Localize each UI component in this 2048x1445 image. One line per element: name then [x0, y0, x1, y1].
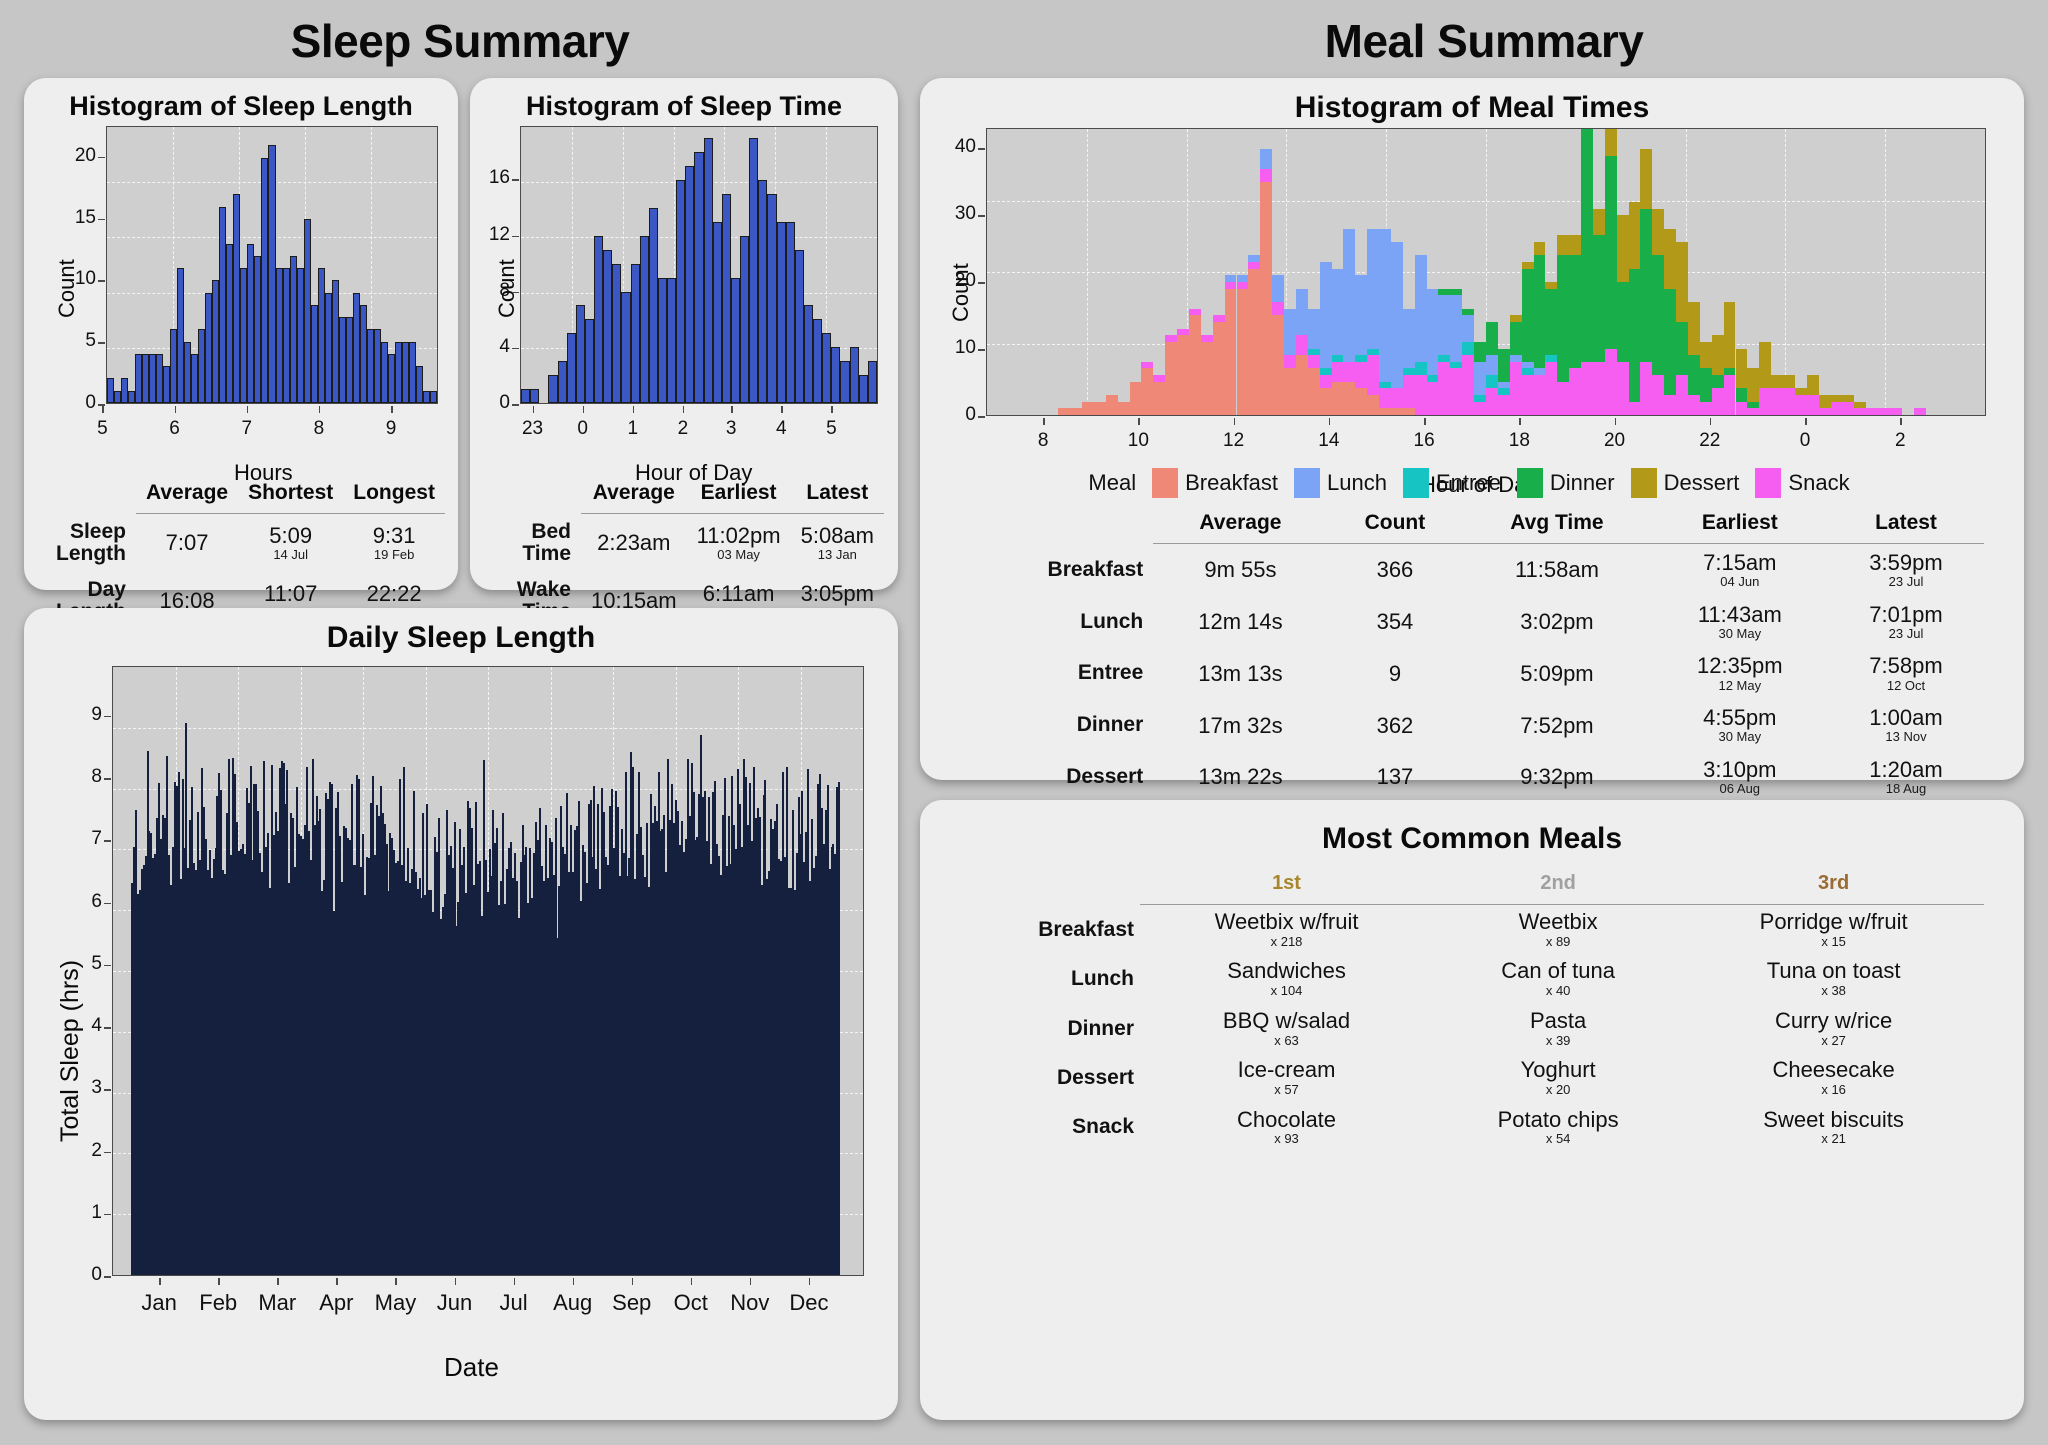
histogram-bar: [170, 329, 177, 403]
histogram-bar: [233, 194, 240, 403]
meal-stack-segment: [1842, 395, 1854, 402]
histogram-bar: [226, 244, 233, 403]
meal-stack-segment: [1700, 402, 1712, 415]
x-tick-label: Oct: [661, 1290, 721, 1316]
histogram-bar: [840, 361, 849, 403]
histogram-bar: [276, 268, 283, 403]
meal-stack-segment: [1296, 355, 1308, 415]
row-label: Sleep Length: [46, 514, 136, 572]
meal-stack-segment: [1759, 342, 1771, 389]
meal-stack-segment: [1094, 402, 1106, 415]
x-tick-label: 5: [90, 418, 114, 440]
cell-first: Ice-creamx 57: [1140, 1053, 1433, 1102]
meal-stack-segment: [1712, 388, 1724, 415]
x-tick-mark: [247, 406, 249, 413]
col-latest: Latest: [791, 478, 884, 514]
meal-stack-segment: [1355, 362, 1367, 389]
table-row: DinnerBBQ w/saladx 63Pastax 39Curry w/ri…: [960, 1004, 1984, 1053]
meal-stack-segment: [1403, 375, 1415, 408]
histogram-bar: [353, 293, 360, 403]
meal-stack-segment: [1771, 388, 1783, 415]
histogram-bar: [831, 347, 840, 403]
y-tick-label: 7: [70, 828, 102, 850]
y-tick-label: 8: [478, 280, 510, 302]
histogram-bar: [704, 138, 713, 403]
x-tick-mark: [1900, 418, 1902, 425]
meal-stack-segment: [1783, 388, 1795, 415]
meal-stack-segment: [1510, 362, 1522, 415]
col-blank: [960, 868, 1140, 905]
histogram-bar: [631, 264, 640, 403]
x-tick-label: 16: [1412, 430, 1436, 452]
histogram-bar: [135, 354, 142, 403]
histogram-bar: [367, 329, 374, 403]
x-tick-mark: [731, 406, 733, 413]
legend-item-dessert[interactable]: Dessert: [1631, 468, 1740, 498]
cell-average: 9m 55s: [1153, 544, 1327, 596]
meal-stack-segment: [1462, 315, 1474, 342]
meal-stack-segment: [1320, 262, 1332, 368]
meal-stack-segment: [1676, 322, 1688, 375]
cell-avg-time: 3:02pm: [1462, 596, 1651, 648]
meal-stack-segment: [1474, 395, 1486, 402]
x-tick-label: 7: [235, 418, 259, 440]
meal-stack-segment: [1664, 289, 1676, 395]
meal-stack-segment: [1403, 408, 1415, 415]
x-tick-mark: [1329, 418, 1331, 425]
y-tick-mark: [512, 348, 519, 350]
x-tick-mark: [781, 406, 783, 413]
y-tick-label: 0: [70, 1264, 102, 1286]
meal-stack-segment: [1688, 355, 1700, 395]
meal-stack-segment: [1213, 322, 1225, 415]
histogram-bar: [767, 194, 776, 403]
y-tick-mark: [104, 778, 111, 780]
meal-stack-segment: [1712, 375, 1724, 388]
histogram-bar: [423, 391, 430, 403]
col-first: 1st: [1140, 868, 1433, 905]
cell-shortest: 5:0914 Jul: [238, 514, 343, 572]
table-row: LunchSandwichesx 104Can of tunax 40Tuna …: [960, 954, 1984, 1003]
x-tick-label: 9: [379, 418, 403, 440]
cell-second: Pastax 39: [1433, 1004, 1683, 1053]
histogram-bar: [374, 329, 381, 403]
row-label: Dessert: [960, 1053, 1140, 1102]
histogram-bar: [822, 333, 831, 403]
row-label: Breakfast: [960, 905, 1140, 955]
cell-first: Sandwichesx 104: [1140, 954, 1433, 1003]
col-blank: [484, 478, 581, 514]
meal-stack-segment: [1498, 349, 1510, 382]
meal-times-histogram: Count Hour of Day 8101214161820220201020…: [920, 122, 2024, 522]
legend-item-lunch[interactable]: Lunch: [1294, 468, 1387, 498]
histogram-bar: [667, 278, 676, 403]
cell-third: Curry w/ricex 27: [1683, 1004, 1984, 1053]
meal-stack-segment: [1890, 408, 1902, 415]
x-tick-mark: [159, 1278, 161, 1285]
meal-stack-segment: [1510, 355, 1522, 362]
meal-stack-segment: [1854, 408, 1866, 415]
meal-stack-segment: [1141, 362, 1153, 369]
histogram-bar: [416, 366, 423, 403]
histogram-bar: [290, 256, 297, 403]
x-tick-mark: [632, 1278, 634, 1285]
meal-stack-segment: [1237, 282, 1249, 289]
entree-swatch-icon: [1403, 468, 1429, 498]
meal-stack-segment: [1700, 368, 1712, 401]
cell-latest: 1:20am18 Aug: [1828, 751, 1984, 803]
cell-count: 366: [1328, 544, 1463, 596]
histogram-bar: [740, 236, 749, 403]
meal-stack-segment: [1332, 362, 1344, 382]
x-tick-mark: [1138, 418, 1140, 425]
x-tick-label: Apr: [306, 1290, 366, 1316]
meal-stack-segment: [1771, 375, 1783, 388]
meal-stack-segment: [1165, 342, 1177, 415]
histogram-bar: [261, 158, 268, 403]
cell-third: Cheesecakex 16: [1683, 1053, 1984, 1102]
meal-times-chart-title: Histogram of Meal Times: [920, 78, 2024, 125]
histogram-bar: [212, 280, 219, 403]
x-tick-mark: [218, 1278, 220, 1285]
meal-stack-segment: [1284, 355, 1296, 368]
meal-stack-segment: [1486, 388, 1498, 415]
meal-stack-segment: [1165, 335, 1177, 342]
meal-stack-segment: [1866, 408, 1878, 415]
meal-stack-segment: [1367, 395, 1379, 415]
meal-stack-segment: [1664, 395, 1676, 415]
histogram-bar: [868, 361, 877, 403]
meal-stack-segment: [1783, 375, 1795, 388]
meal-stack-segment: [1510, 315, 1522, 322]
meal-stack-segment: [1878, 408, 1890, 415]
histogram-bar: [621, 292, 630, 404]
meal-stack-segment: [1712, 335, 1724, 375]
x-tick-mark: [277, 1278, 279, 1285]
meal-stack-segment: [1141, 368, 1153, 415]
x-tick-label: 20: [1603, 430, 1627, 452]
meal-stack-segment: [1676, 375, 1688, 415]
y-tick-mark: [104, 1027, 111, 1029]
histogram-bar: [749, 138, 758, 403]
y-tick-mark: [978, 282, 985, 284]
x-tick-mark: [691, 1278, 693, 1285]
histogram-bar: [558, 361, 567, 403]
meal-stack-segment: [1379, 382, 1391, 389]
legend-title: Meal: [1088, 470, 1136, 496]
histogram-bar: [786, 222, 795, 403]
histogram-bar: [128, 391, 135, 403]
meal-stack-segment: [1450, 295, 1462, 362]
meal-stack-segment: [1308, 355, 1320, 368]
meal-stack-segment: [1450, 368, 1462, 415]
cell-first: Chocolatex 93: [1140, 1103, 1433, 1152]
meal-stack-segment: [1486, 355, 1498, 375]
table-row: Dessert13m 22s1379:32pm3:10pm06 Aug1:20a…: [960, 751, 1984, 803]
histogram-bar: [247, 244, 254, 403]
histogram-bar: [156, 354, 163, 403]
snack-swatch-icon: [1755, 468, 1781, 498]
cell-average: 2:23am: [581, 514, 687, 572]
meal-stack-segment: [1427, 289, 1439, 375]
legend-item-entree[interactable]: Entree: [1403, 468, 1501, 498]
histogram-bar: [114, 391, 121, 403]
meal-stack-segment: [1438, 362, 1450, 415]
col-average: Average: [136, 478, 238, 514]
x-tick-label: Nov: [720, 1290, 780, 1316]
y-tick-label: 40: [944, 136, 976, 158]
y-tick-mark: [978, 148, 985, 150]
cell-first: BBQ w/saladx 63: [1140, 1004, 1433, 1053]
sleep-time-stats-table: Average Earliest Latest Bed Time 2:23am …: [484, 478, 884, 630]
cell-second: Can of tunax 40: [1433, 954, 1683, 1003]
histogram-bar: [530, 389, 539, 403]
meal-stack-segment: [1807, 375, 1819, 395]
meal-stack-segment: [1700, 342, 1712, 369]
breakfast-swatch-icon: [1152, 468, 1178, 498]
row-label: Dinner: [960, 699, 1153, 751]
cell-count: 362: [1328, 699, 1463, 751]
histogram-bar: [388, 354, 395, 403]
histogram-bar: [409, 342, 416, 403]
meal-stack-segment: [1629, 402, 1641, 415]
y-tick-label: 2: [70, 1140, 102, 1162]
cell-earliest: 11:43am30 May: [1652, 596, 1828, 648]
x-tick-mark: [573, 1278, 575, 1285]
meal-stack-segment: [1296, 289, 1308, 336]
meal-stack-segment: [1593, 362, 1605, 415]
col-earliest: Earliest: [687, 478, 791, 514]
table-row: DessertIce-creamx 57Yoghurtx 20Cheesecak…: [960, 1053, 1984, 1102]
y-tick-label: 6: [70, 891, 102, 913]
meal-stack-segment: [1308, 309, 1320, 349]
y-tick-label: 4: [70, 1015, 102, 1037]
common-meals-table: 1st 2nd 3rd BreakfastWeetbix w/fruitx 21…: [960, 868, 1984, 1152]
x-tick-label: 8: [307, 418, 331, 440]
x-tick-label: Jun: [425, 1290, 485, 1316]
meal-stack-segment: [1557, 255, 1569, 381]
sleep-time-histogram: Count Hour of Day 230123450481216: [470, 118, 898, 478]
x-tick-mark: [1615, 418, 1617, 425]
meal-stack-segment: [1225, 282, 1237, 289]
meal-stack-segment: [1296, 335, 1308, 355]
meal-stack-segment: [1581, 362, 1593, 415]
y-tick-label: 16: [478, 167, 510, 189]
daily-sleep-x-axis-label: Date: [444, 1352, 499, 1383]
x-tick-mark: [1805, 418, 1807, 425]
y-tick-label: 20: [944, 270, 976, 292]
meal-stack-segment: [1593, 235, 1605, 361]
col-latest: Latest: [1828, 508, 1984, 544]
meal-stack-segment: [1272, 315, 1284, 415]
histogram-bar: [567, 333, 576, 403]
meal-stack-segment: [1450, 289, 1462, 296]
meal-stack-segment: [1438, 355, 1450, 362]
meal-stack-segment: [1736, 349, 1748, 389]
meal-stack-segment: [1391, 408, 1403, 415]
meal-stack-segment: [1332, 355, 1344, 362]
y-tick-label: 0: [944, 404, 976, 426]
legend-item-breakfast[interactable]: Breakfast: [1152, 468, 1278, 498]
x-tick-label: 1: [621, 418, 645, 440]
meal-stack-segment: [1320, 368, 1332, 375]
histogram-bar: [548, 375, 557, 403]
histogram-bar: [254, 256, 261, 403]
histogram-bar: [177, 268, 184, 403]
card-sleep-length: Histogram of Sleep Length Count Hours 56…: [24, 78, 458, 590]
y-tick-mark: [104, 1214, 111, 1216]
table-row: Breakfast9m 55s36611:58am7:15am04 Jun3:5…: [960, 544, 1984, 596]
sleep-length-stats-table: Average Shortest Longest Sleep Length 7:…: [46, 478, 438, 630]
histogram-bar: [813, 319, 822, 403]
meal-stack-segment: [1260, 149, 1272, 169]
cell-first: Weetbix w/fruitx 218: [1140, 905, 1433, 955]
legend-item-dinner[interactable]: Dinner: [1517, 468, 1615, 498]
meal-stack-segment: [1534, 255, 1546, 368]
histogram-bar: [713, 222, 722, 403]
y-tick-label: 10: [944, 337, 976, 359]
row-label: Lunch: [960, 596, 1153, 648]
y-tick-mark: [98, 342, 105, 344]
meal-stack-segment: [1213, 315, 1225, 322]
y-tick-label: 10: [64, 268, 96, 290]
x-tick-label: 0: [571, 418, 595, 440]
meal-stack-segment: [1652, 255, 1664, 375]
meal-stack-segment: [1534, 368, 1546, 375]
cell-average: 17m 32s: [1153, 699, 1327, 751]
x-tick-label: 3: [719, 418, 743, 440]
x-tick-label: Feb: [188, 1290, 248, 1316]
y-tick-mark: [104, 965, 111, 967]
cell-second: Potato chipsx 54: [1433, 1103, 1683, 1152]
col-earliest: Earliest: [1652, 508, 1828, 544]
x-tick-mark: [583, 406, 585, 413]
meal-stack-segment: [1225, 289, 1237, 415]
x-tick-label: 2: [671, 418, 695, 440]
histogram-bar: [297, 268, 304, 403]
meal-stack-segment: [1831, 395, 1843, 402]
meal-stack-segment: [1854, 402, 1866, 409]
meal-stack-segment: [1153, 382, 1165, 415]
meal-stack-segment: [1534, 242, 1546, 255]
y-tick-label: 20: [64, 145, 96, 167]
meal-stack-segment: [1058, 408, 1070, 415]
col-average: Average: [581, 478, 687, 514]
table-row: Sleep Length 7:07 5:0914 Jul 9:3119 Feb: [46, 514, 445, 572]
card-meal-times: Histogram of Meal Times Count Hour of Da…: [920, 78, 2024, 780]
dashboard: Sleep Summary Meal Summary Histogram of …: [0, 0, 2048, 1445]
meal-stack-segment: [1557, 235, 1569, 255]
meal-stack-segment: [1545, 362, 1557, 415]
cell-average: 7:07: [136, 514, 238, 572]
histogram-bar: [676, 180, 685, 403]
histogram-bar: [339, 317, 346, 403]
x-tick-mark: [319, 406, 321, 413]
meal-stack-segment: [1427, 382, 1439, 415]
meal-stack-segment: [1201, 342, 1213, 415]
sleep-summary-title: Sleep Summary: [0, 14, 920, 68]
x-tick-label: 18: [1507, 430, 1531, 452]
cell-latest: 5:08am13 Jan: [791, 514, 884, 572]
x-tick-label: 6: [163, 418, 187, 440]
y-tick-mark: [104, 840, 111, 842]
dessert-swatch-icon: [1631, 468, 1657, 498]
meal-stack-segment: [1736, 402, 1748, 415]
meal-summary-title: Meal Summary: [920, 14, 2048, 68]
histogram-bar: [142, 354, 149, 403]
y-tick-mark: [512, 179, 519, 181]
row-label: Dinner: [960, 1004, 1140, 1053]
x-tick-mark: [102, 406, 104, 413]
x-tick-label: 10: [1126, 430, 1150, 452]
meal-stack-segment: [1498, 382, 1510, 389]
gridline-horizontal: [987, 272, 1985, 273]
sleep-length-chart-title: Histogram of Sleep Length: [24, 78, 458, 122]
cell-latest: 1:00am13 Nov: [1828, 699, 1984, 751]
meal-stack-segment: [1724, 375, 1736, 415]
meal-stack-segment: [1462, 342, 1474, 355]
card-common-meals: Most Common Meals 1st 2nd 3rd BreakfastW…: [920, 800, 2024, 1420]
x-tick-mark: [1424, 418, 1426, 425]
histogram-bar: [859, 375, 868, 403]
meal-stack-segment: [1427, 375, 1439, 382]
histogram-bar: [381, 342, 388, 403]
meal-stack-segment: [1807, 395, 1819, 415]
meal-stack-segment: [1688, 395, 1700, 415]
cell-average: 12m 14s: [1153, 596, 1327, 648]
cell-average: 13m 13s: [1153, 647, 1327, 699]
x-tick-label: Jul: [484, 1290, 544, 1316]
meal-stack-segment: [1308, 368, 1320, 415]
histogram-bar: [685, 166, 694, 403]
meal-stack-segment: [1640, 149, 1652, 209]
histogram-bar: [332, 280, 339, 403]
meal-stack-segment: [1747, 402, 1759, 409]
histogram-bar: [191, 354, 198, 403]
card-sleep-time: Histogram of Sleep Time Count Hour of Da…: [470, 78, 898, 590]
histogram-bar: [430, 391, 437, 403]
meal-stack-segment: [1581, 128, 1593, 129]
histogram-bar: [603, 250, 612, 403]
meal-stack-segment: [1237, 275, 1249, 282]
x-tick-mark: [683, 406, 685, 413]
y-tick-mark: [512, 404, 519, 406]
meal-stack-segment: [1617, 282, 1629, 362]
row-label: Snack: [960, 1103, 1140, 1152]
meal-stack-segment: [1082, 402, 1094, 415]
histogram-bar: [163, 366, 170, 403]
x-tick-mark: [533, 406, 535, 413]
meal-stack-segment: [1652, 209, 1664, 256]
meal-stack-segment: [1522, 368, 1534, 375]
meal-stack-segment: [1593, 209, 1605, 236]
cell-third: Porridge w/fruitx 15: [1683, 905, 1984, 955]
meal-stack-segment: [1391, 388, 1403, 408]
x-tick-mark: [1043, 418, 1045, 425]
histogram-bar: [594, 236, 603, 403]
cell-avg-time: 7:52pm: [1462, 699, 1651, 751]
meal-stack-segment: [1248, 255, 1260, 262]
meal-stack-segment: [1343, 229, 1355, 362]
meal-stack-segment: [1629, 269, 1641, 402]
x-tick-label: Mar: [247, 1290, 307, 1316]
cell-avg-time: 9:32pm: [1462, 751, 1651, 803]
cell-earliest: 11:02pm03 May: [687, 514, 791, 572]
meal-stack-segment: [1605, 129, 1617, 156]
histogram-bar: [612, 264, 621, 403]
cell-longest: 9:3119 Feb: [343, 514, 445, 572]
legend-item-snack[interactable]: Snack: [1755, 468, 1849, 498]
